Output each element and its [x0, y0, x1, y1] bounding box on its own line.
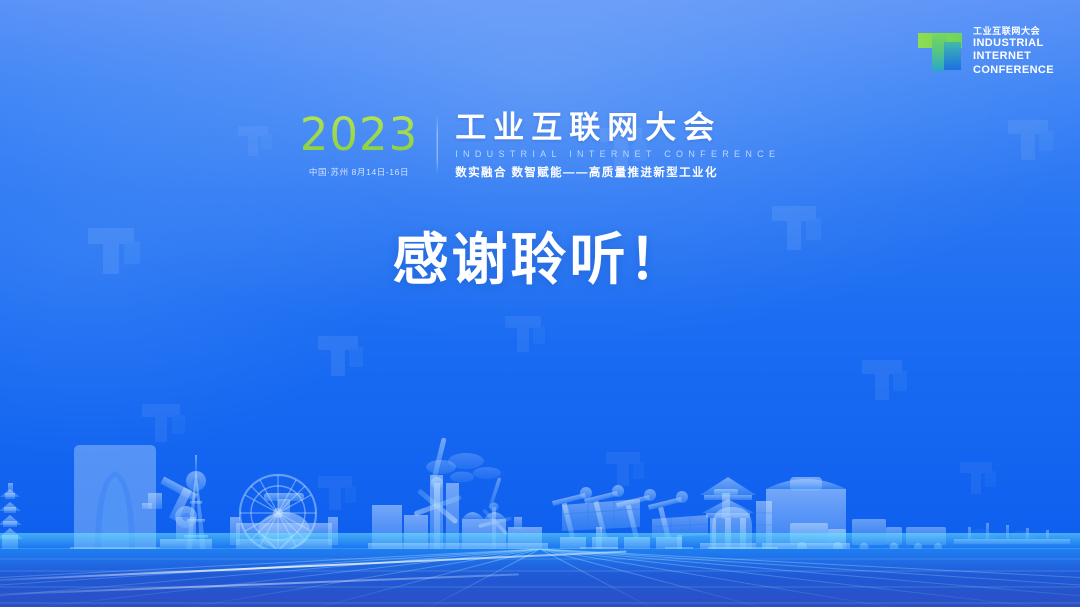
slide-headline: 感谢聆听！ — [0, 232, 1080, 288]
event-location-dates: 中国·苏州 8月14日-16日 — [300, 166, 419, 178]
conference-logo: 工业互联网大会 INDUSTRIAL INTERNET CONFERENCE — [916, 26, 1054, 77]
bottom-scene — [0, 427, 1080, 607]
perspective-grid-ground — [0, 549, 1080, 607]
event-en-title: INDUSTRIAL INTERNET CONFERENCE — [455, 149, 780, 159]
t-logo-watermark — [862, 360, 902, 400]
presentation-slide: 工业互联网大会 INDUSTRIAL INTERNET CONFERENCE 2… — [0, 0, 1080, 607]
logo-en-line-2: INTERNET — [973, 50, 1054, 63]
t-logo-watermark — [1008, 120, 1048, 160]
t-logo-watermark — [505, 316, 541, 352]
event-slogan: 数实融合 数智赋能——高质量推进新型工业化 — [455, 164, 780, 180]
logo-text-block: 工业互联网大会 INDUSTRIAL INTERNET CONFERENCE — [973, 26, 1054, 77]
t-logo-watermark — [318, 336, 358, 376]
lockup-divider — [436, 114, 437, 174]
t-logo-watermark — [238, 126, 268, 156]
event-title-lockup: 2023 中国·苏州 8月14日-16日 工业互联网大会 INDUSTRIAL … — [300, 110, 781, 180]
year-block: 2023 中国·苏州 8月14日-16日 — [300, 110, 419, 178]
logo-cn-name: 工业互联网大会 — [973, 26, 1054, 37]
logo-en-line-3: CONFERENCE — [973, 64, 1054, 77]
title-block: 工业互联网大会 INDUSTRIAL INTERNET CONFERENCE 数… — [455, 110, 780, 180]
industrial-internet-t-logo-icon — [916, 28, 964, 76]
event-year: 2023 — [300, 112, 419, 157]
event-cn-title: 工业互联网大会 — [455, 112, 780, 145]
logo-en-line-1: INDUSTRIAL — [973, 37, 1054, 50]
